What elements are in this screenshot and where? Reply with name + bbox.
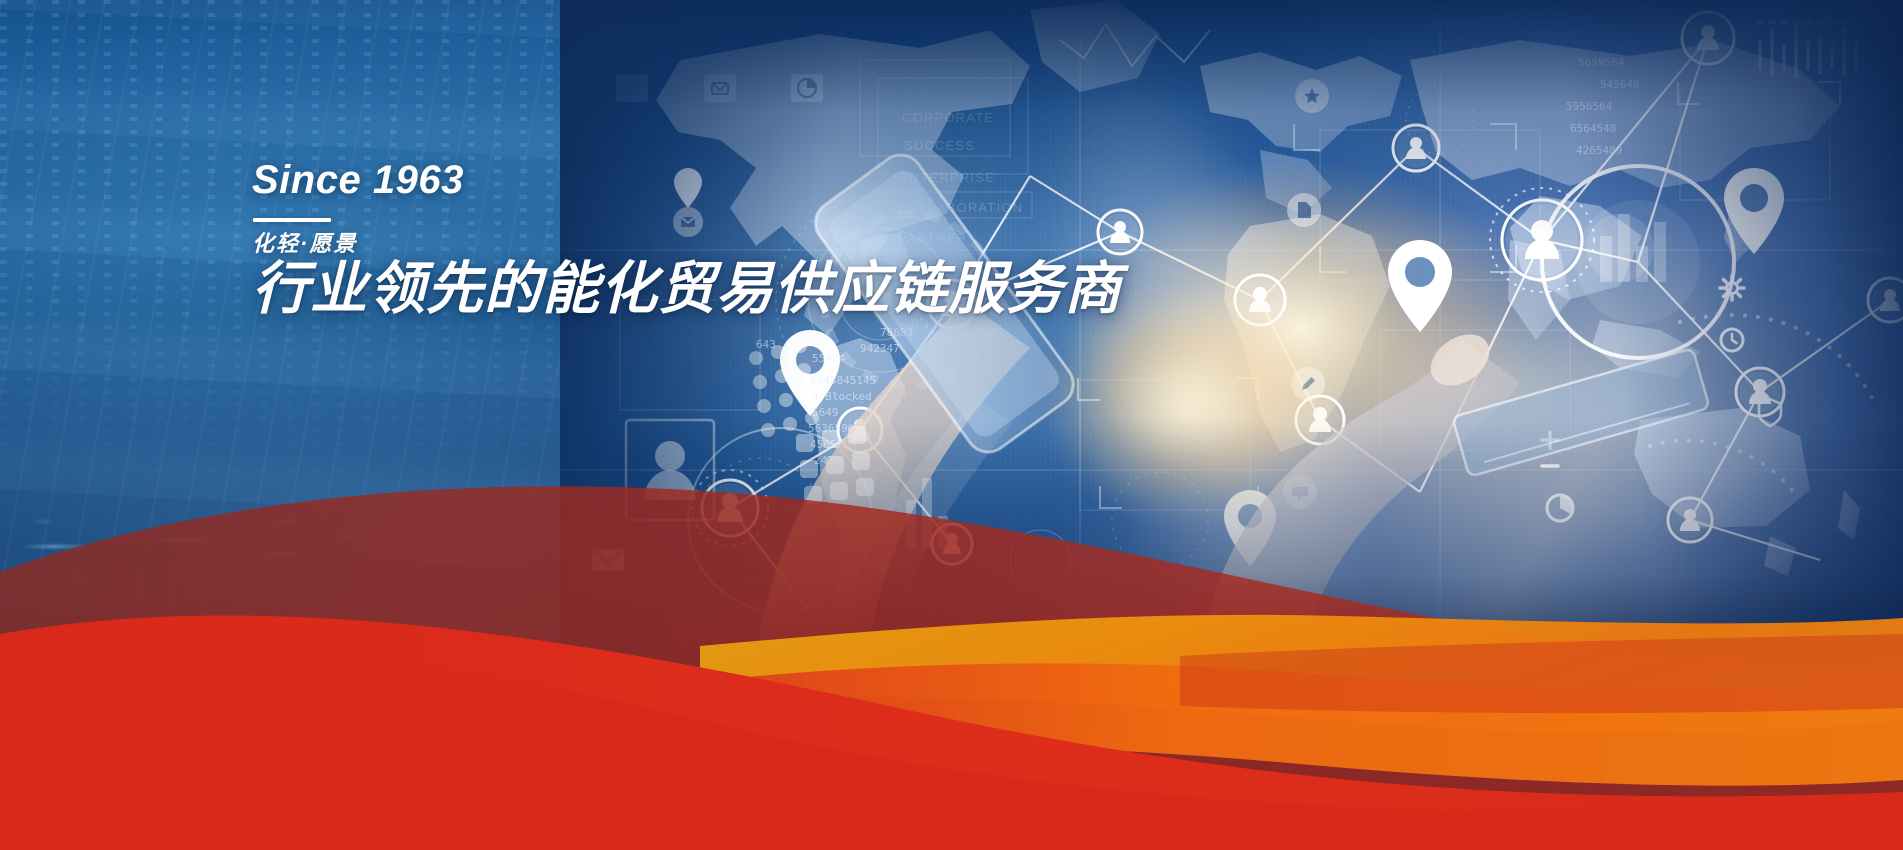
- bottom-wave-graphics: [0, 420, 1903, 850]
- title-divider: [253, 218, 331, 222]
- hero-banner: 5659564 545646 5956564 6564548 4265489 5…: [0, 0, 1903, 850]
- hero-copy: Since 1963 化轻·愿景 行业领先的能化贸易供应链服务商: [252, 160, 1012, 322]
- eyebrow-since: Since 1963: [252, 160, 1012, 200]
- page-title: 行业领先的能化贸易供应链服务商: [252, 258, 1012, 322]
- subtitle: 化轻·愿景: [252, 232, 1012, 256]
